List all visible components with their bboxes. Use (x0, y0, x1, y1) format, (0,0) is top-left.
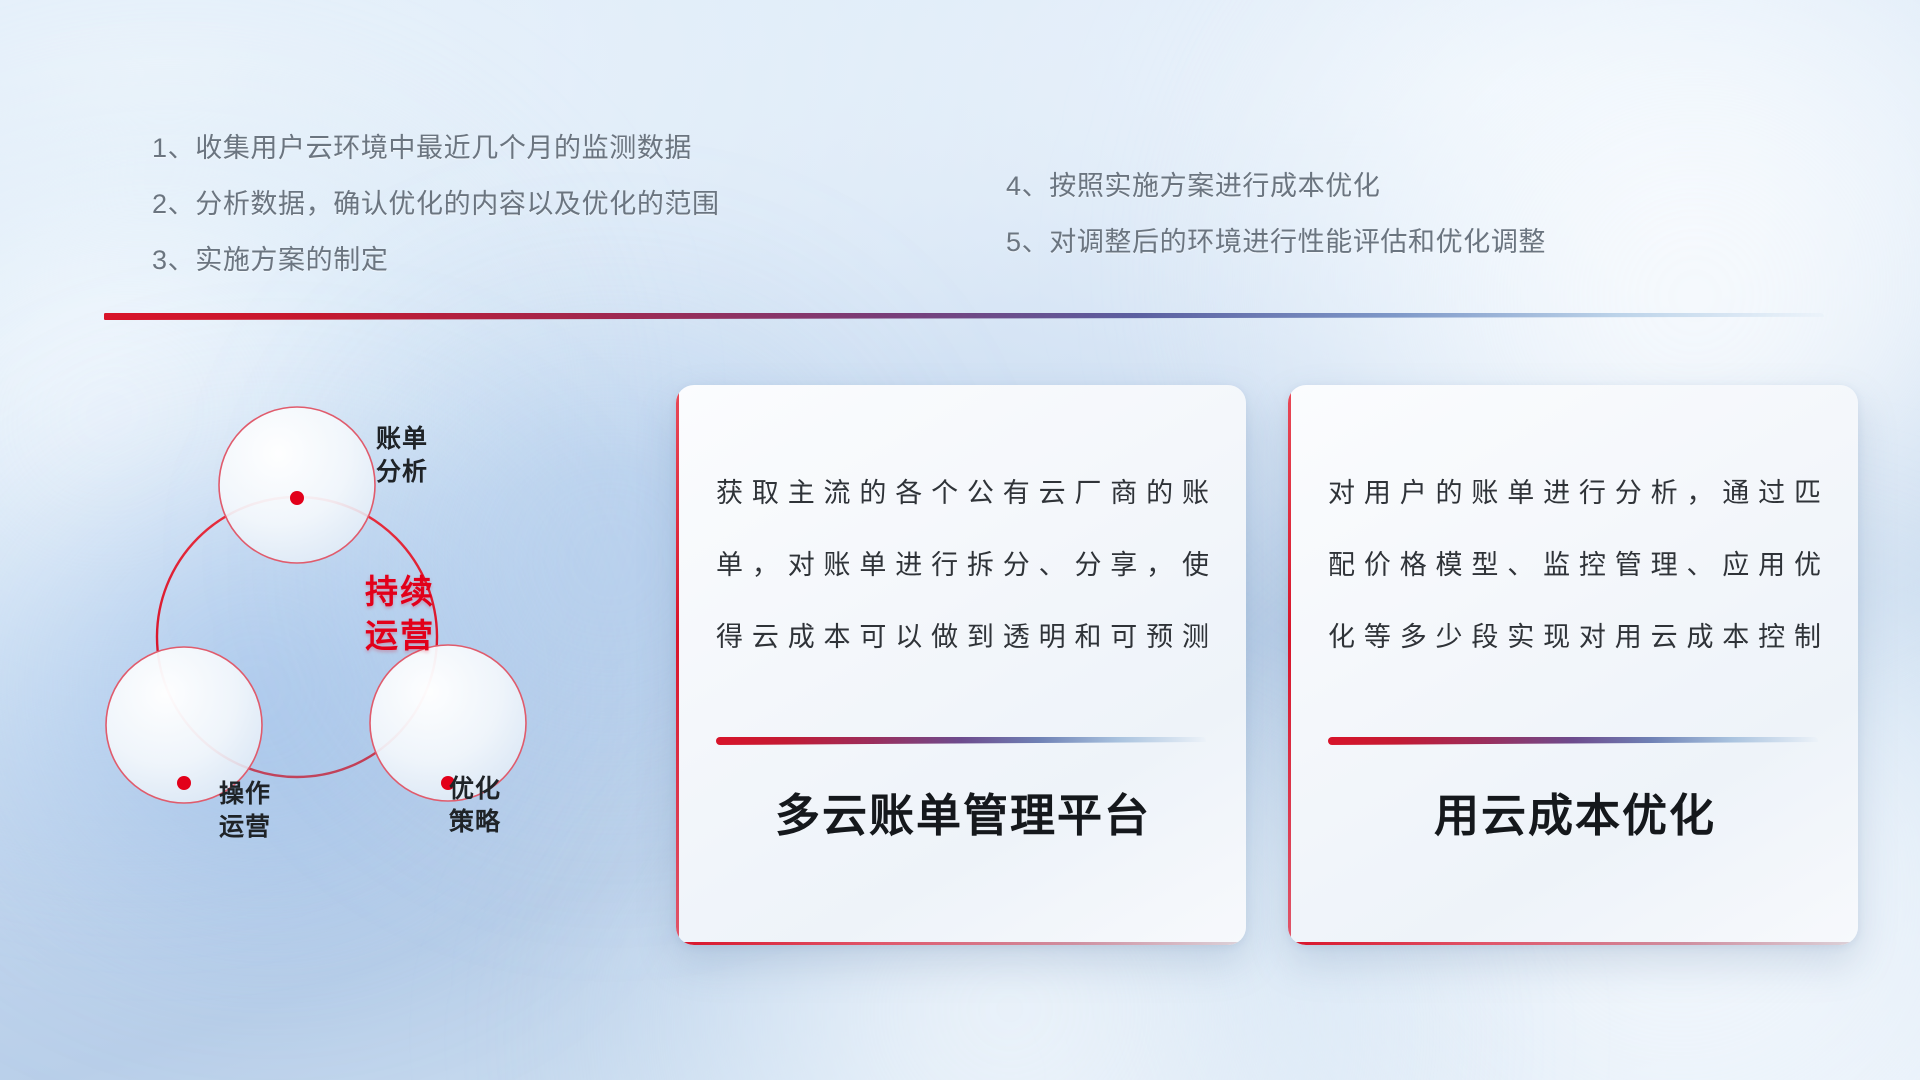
step-item-4: 4、按照实施方案进行成本优化 (1006, 158, 1546, 214)
venn-label-center: 持续 运营 (300, 570, 500, 658)
steps-left-column: 1、收集用户云环境中最近几个月的监测数据 2、分析数据，确认优化的内容以及优化的… (152, 120, 720, 288)
venn-label-center-line1: 持续 (300, 570, 500, 614)
card-2-body: 对用户的账单进行分析，通过匹 配价格模型、监控管理、应用优 化等多少段实现对用云… (1328, 457, 1822, 673)
venn-label-left-line2: 运营 (160, 811, 330, 844)
section-divider (104, 313, 1824, 320)
card-1-title: 多云账单管理平台 (716, 785, 1210, 847)
step-item-3: 3、实施方案的制定 (152, 232, 720, 288)
card-1-accent-rule (716, 737, 1206, 745)
venn-label-left-line1: 操作 (160, 778, 330, 811)
venn-label-top-line2: 分析 (312, 456, 492, 489)
card-2-paragraph-line-2: 配价格模型、监控管理、应用优 (1328, 529, 1822, 601)
venn-label-top-line1: 账单 (312, 423, 492, 456)
steps-section: 1、收集用户云环境中最近几个月的监测数据 2、分析数据，确认优化的内容以及优化的… (0, 0, 1920, 300)
venn-label-right: 优化 策略 (390, 773, 560, 839)
card-2-title: 用云成本优化 (1328, 785, 1822, 847)
card-cloud-cost-optimization[interactable]: 对用户的账单进行分析，通过匹 配价格模型、监控管理、应用优 化等多少段实现对用云… (1288, 385, 1858, 945)
venn-label-center-line2: 运营 (300, 614, 500, 658)
steps-right-column: 4、按照实施方案进行成本优化 5、对调整后的环境进行性能评估和优化调整 (1006, 158, 1546, 270)
venn-label-top: 账单 分析 (312, 423, 492, 489)
venn-node-dot-top (290, 491, 304, 505)
card-1-paragraph-line-1: 获取主流的各个公有云厂商的账 (716, 457, 1210, 529)
venn-label-right-line2: 策略 (390, 806, 560, 839)
card-2-accent-rule (1328, 737, 1818, 745)
card-1-body: 获取主流的各个公有云厂商的账 单，对账单进行拆分、分享，使 得云成本可以做到透明… (716, 457, 1210, 673)
slide-canvas: 1、收集用户云环境中最近几个月的监测数据 2、分析数据，确认优化的内容以及优化的… (0, 0, 1920, 1080)
step-item-2: 2、分析数据，确认优化的内容以及优化的范围 (152, 176, 720, 232)
card-1-paragraph-line-2: 单，对账单进行拆分、分享，使 (716, 529, 1210, 601)
step-item-5: 5、对调整后的环境进行性能评估和优化调整 (1006, 214, 1546, 270)
venn-label-left: 操作 运营 (160, 778, 330, 844)
card-1-paragraph-line-3: 得云成本可以做到透明和可预测 (716, 601, 1210, 673)
card-2-paragraph-line-1: 对用户的账单进行分析，通过匹 (1328, 457, 1822, 529)
card-multi-cloud-billing[interactable]: 获取主流的各个公有云厂商的账 单，对账单进行拆分、分享，使 得云成本可以做到透明… (676, 385, 1246, 945)
venn-label-right-line1: 优化 (390, 773, 560, 806)
venn-diagram: 账单 分析 持续 运营 操作 运营 优化 策略 (100, 355, 620, 915)
card-2-paragraph-line-3: 化等多少段实现对用云成本控制 (1328, 601, 1822, 673)
step-item-1: 1、收集用户云环境中最近几个月的监测数据 (152, 120, 720, 176)
